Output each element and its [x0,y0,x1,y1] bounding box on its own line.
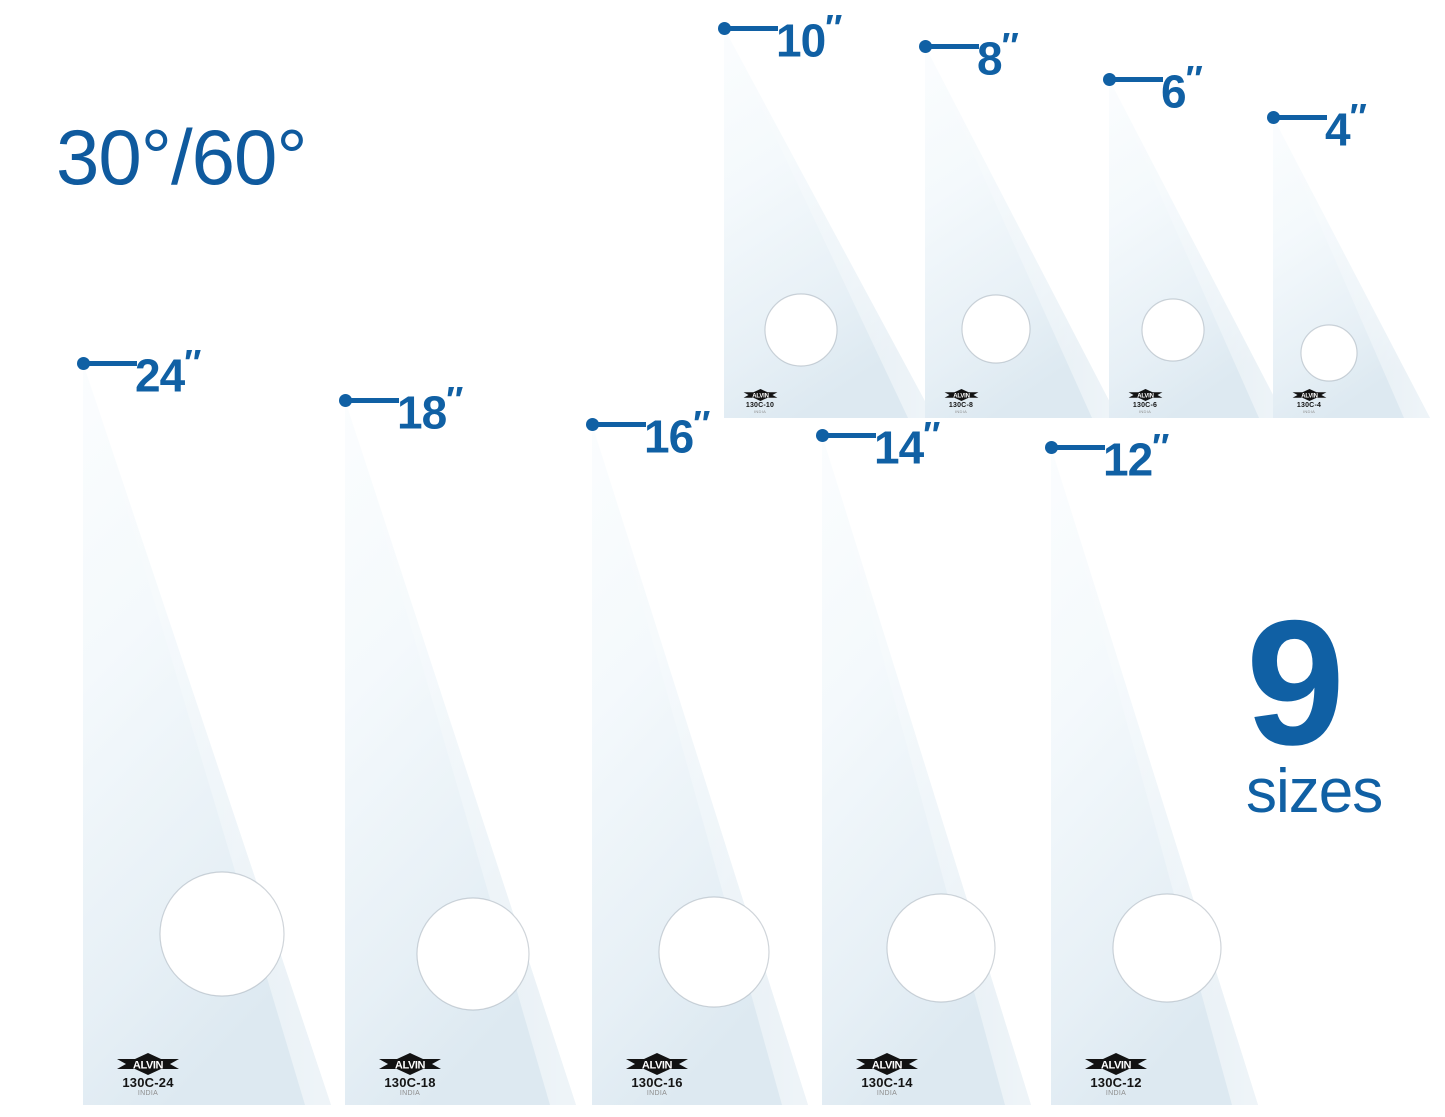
drafting-triangle: ALVIN130C-18INDIA [341,396,580,1109]
page-title: 30°/60° [56,118,307,196]
drafting-triangle: ALVIN130C-24INDIA [79,359,335,1109]
size-count-caption: sizes [1246,761,1416,823]
drafting-triangle: ALVIN130C-6INDIA [1105,75,1289,422]
drafting-triangle: ALVIN130C-16INDIA [588,420,812,1109]
infographic-canvas: 30°/60° 9 sizes ALVIN130C-24INDIAALVIN13… [0,0,1445,1117]
size-count-number: 9 [1246,606,1416,759]
drafting-triangle: ALVIN130C-10INDIA [720,24,938,422]
drafting-triangle: ALVIN130C-12INDIA [1047,443,1262,1109]
drafting-triangle: ALVIN130C-4INDIA [1269,113,1434,422]
size-count-block: 9 sizes [1246,606,1416,823]
drafting-triangle: ALVIN130C-8INDIA [921,42,1122,422]
drafting-triangle: ALVIN130C-14INDIA [818,431,1035,1109]
